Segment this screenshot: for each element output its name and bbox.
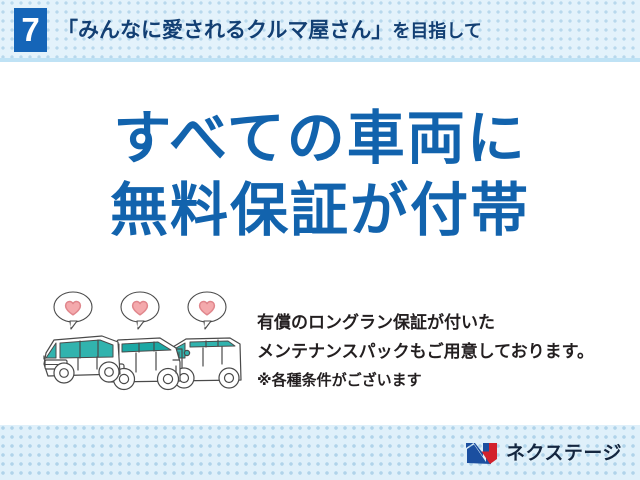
- nexstage-n-logo-icon: [465, 441, 499, 466]
- body-copy-line-2: メンテナンスパックもご用意しております。: [257, 337, 627, 366]
- header-title-quoted: 「みんなに愛されるクルマ屋さん」: [57, 19, 392, 42]
- minivan-car: [44, 336, 120, 383]
- heart-bubble-center: [121, 292, 159, 329]
- body-copy-line-1: 有償のロングラン保証が付いた: [257, 308, 627, 337]
- footer-band: ネクステージ: [0, 425, 640, 480]
- heart-bubble-right: [188, 292, 226, 329]
- cars-with-hearts-illustration: [40, 290, 260, 402]
- header-title-tail: を目指して: [392, 21, 481, 41]
- body-copy-note: ※各種条件がございます: [257, 366, 627, 395]
- section-number-badge: 7: [14, 8, 47, 52]
- brand-lockup: ネクステージ: [465, 439, 622, 467]
- headline-line-1: すべての車両に: [0, 107, 640, 171]
- header-title: 「みんなに愛されるクルマ屋さん」を目指して: [57, 13, 482, 49]
- main-content: すべての車両に 無料保証が付帯: [0, 62, 640, 425]
- brand-name: ネクステージ: [506, 441, 622, 466]
- promo-poster: 7 「みんなに愛されるクルマ屋さん」を目指して すべての車両に 無料保証が付帯: [0, 0, 640, 480]
- body-copy: 有償のロングラン保証が付いた メンテナンスパックもご用意しております。 ※各種条…: [257, 308, 627, 395]
- heart-bubble-left: [54, 292, 92, 329]
- headline-line-2: 無料保証が付帯: [0, 179, 640, 243]
